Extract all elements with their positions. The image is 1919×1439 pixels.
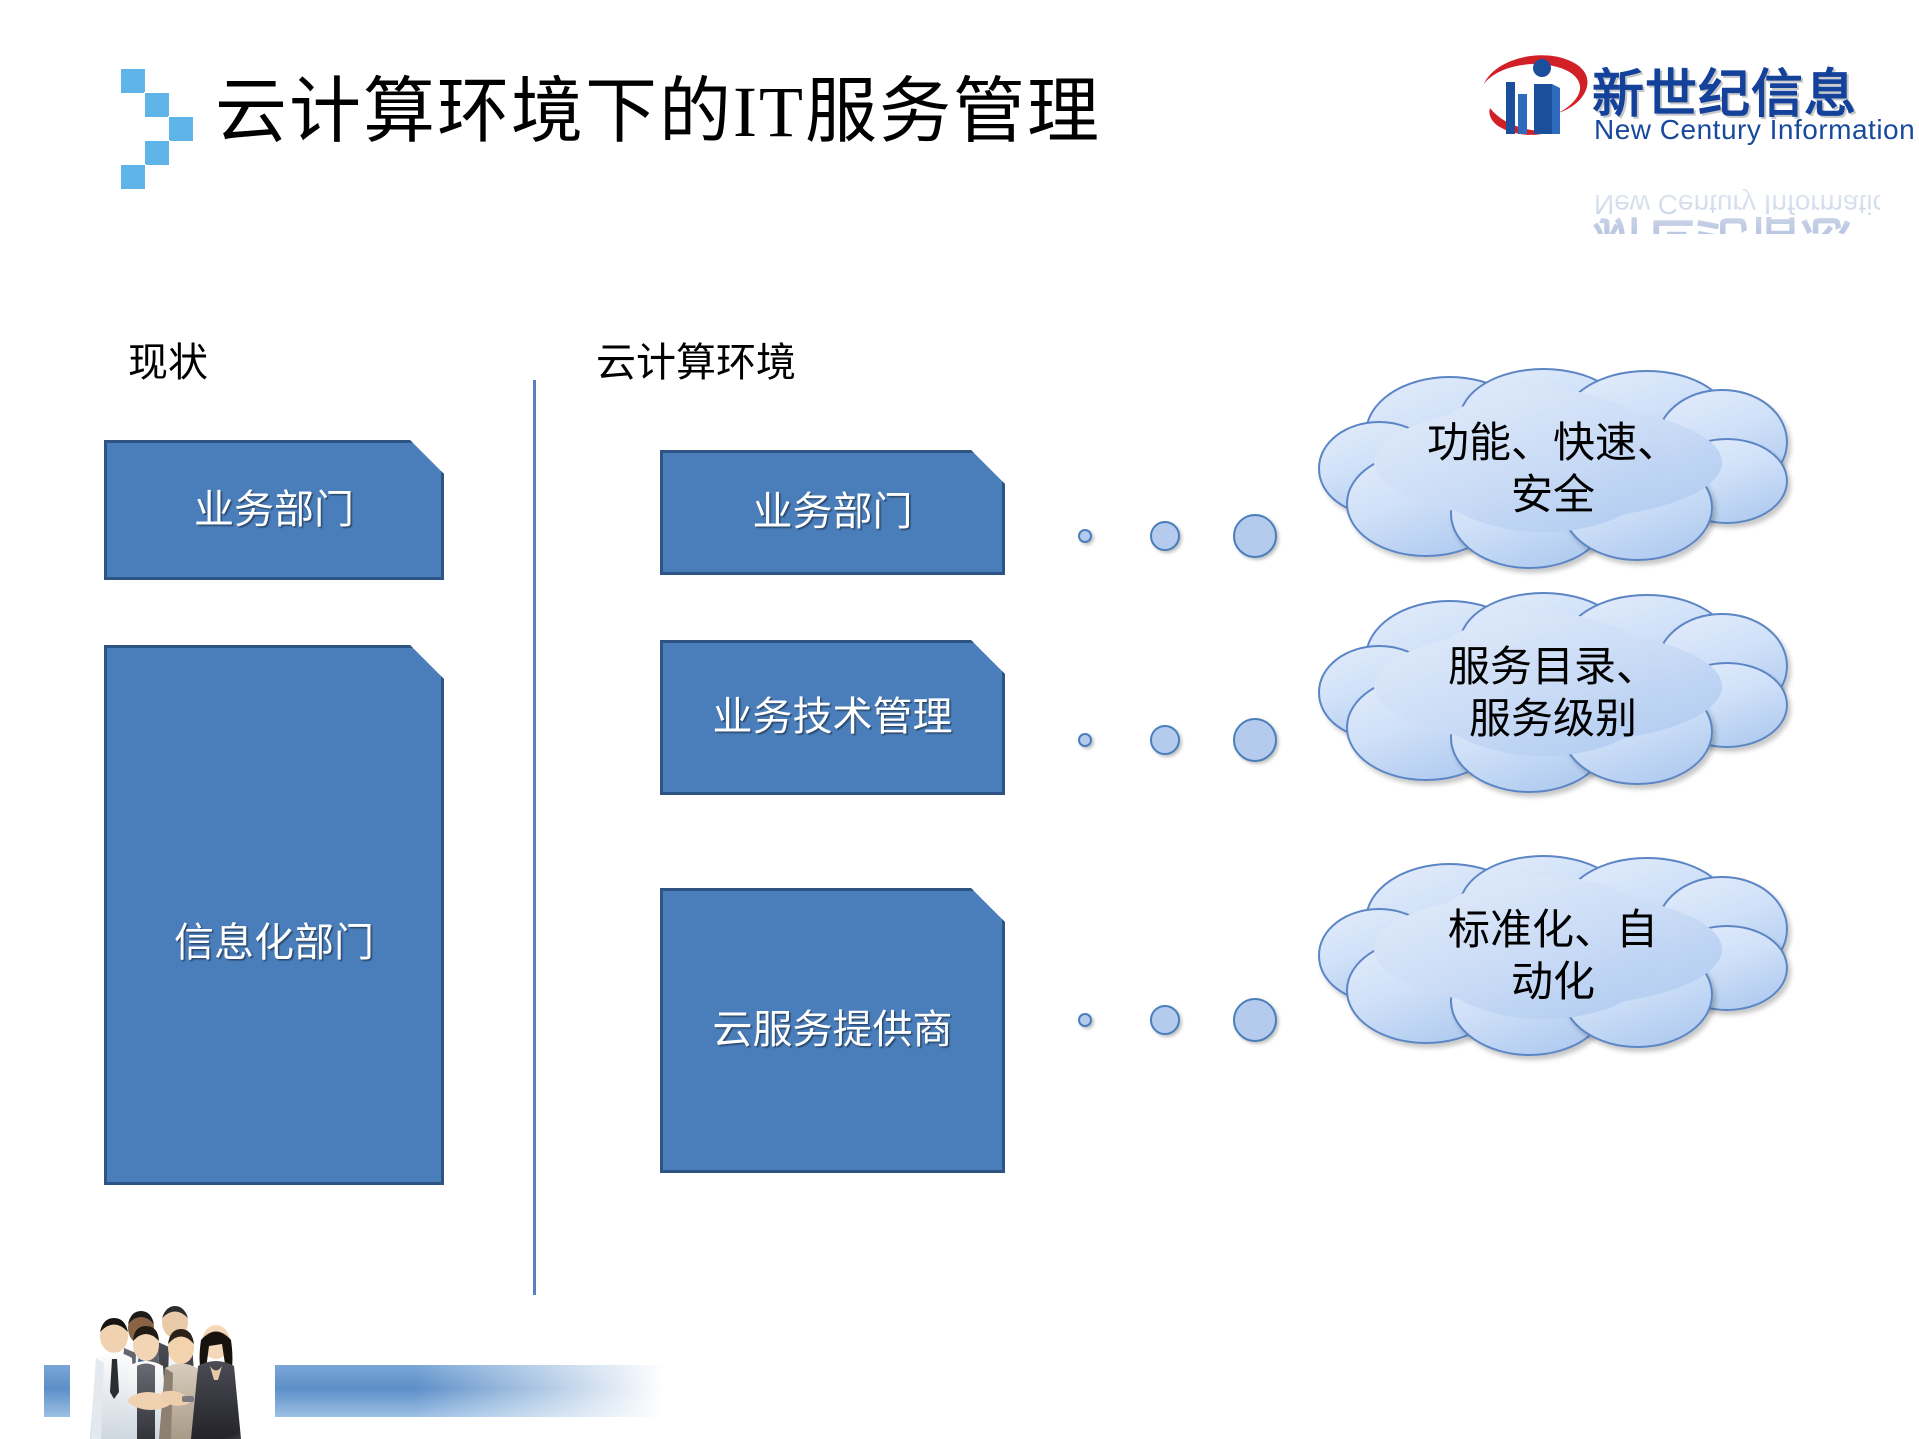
- callout-dot: [1233, 998, 1277, 1042]
- cloud-callout[interactable]: 标准化、自动化: [1318, 855, 1788, 1060]
- cloud-callout-text: 服务目录、服务级别: [1318, 592, 1788, 797]
- callout-dot: [1150, 521, 1180, 551]
- cloud-text-line: 动化: [1448, 958, 1658, 1009]
- bullet-square: [120, 68, 146, 94]
- process-box-label: 云服务提供商: [699, 1006, 967, 1055]
- logo-reflection: 新世纪信息 New Century Information: [1480, 154, 1880, 234]
- callout-dot: [1150, 1005, 1180, 1035]
- cloud-callout-text: 标准化、自动化: [1318, 855, 1788, 1060]
- process-box-label: 信息化部门: [160, 919, 388, 968]
- callout-dot: [1078, 529, 1092, 543]
- process-box-business-department-current[interactable]: 业务部门: [104, 440, 444, 580]
- callout-dot: [1078, 733, 1092, 747]
- bullet-square: [120, 164, 146, 190]
- column-divider: [533, 380, 536, 1295]
- process-box-cloud-service-provider[interactable]: 云服务提供商: [660, 888, 1005, 1173]
- cloud-text-line: 安全: [1427, 471, 1679, 522]
- cloud-text-line: 服务目录、: [1448, 643, 1658, 694]
- logo-english-name: New Century Information: [1594, 114, 1915, 146]
- process-box-business-department-cloud[interactable]: 业务部门: [660, 450, 1005, 575]
- callout-dot: [1150, 725, 1180, 755]
- bullet-square: [144, 140, 170, 166]
- callout-dot: [1078, 1013, 1092, 1027]
- cloud-text-line: 服务级别: [1448, 695, 1658, 746]
- cloud-callout[interactable]: 服务目录、服务级别: [1318, 592, 1788, 797]
- bullet-square: [144, 92, 170, 118]
- bullet-square: [168, 116, 194, 142]
- logo-reflection-english: New Century Information: [1594, 188, 1880, 220]
- title-bullet-icon: [96, 68, 172, 168]
- callout-dot: [1233, 718, 1277, 762]
- business-team-photo: [70, 1300, 275, 1439]
- process-box-label: 业务部门: [180, 486, 368, 535]
- page-title: 云计算环境下的IT服务管理: [215, 52, 1101, 157]
- cloud-text-line: 功能、快速、: [1427, 419, 1679, 470]
- company-logo: 新世纪信息 New Century Information 新世纪信息 New …: [1480, 46, 1880, 186]
- column-heading-current-state: 现状: [128, 330, 208, 388]
- process-box-label: 业务部门: [739, 488, 927, 537]
- callout-dot: [1233, 514, 1277, 558]
- cloud-callout-text: 功能、快速、安全: [1318, 368, 1788, 573]
- team-photo-illustration: [70, 1300, 275, 1439]
- new-century-swoosh-icon: [1480, 50, 1596, 146]
- process-box-business-tech-management[interactable]: 业务技术管理: [660, 640, 1005, 795]
- column-heading-cloud-environment: 云计算环境: [596, 330, 796, 388]
- cloud-callout[interactable]: 功能、快速、安全: [1318, 368, 1788, 573]
- process-box-it-department[interactable]: 信息化部门: [104, 645, 444, 1185]
- process-box-label: 业务技术管理: [699, 693, 967, 742]
- cloud-text-line: 标准化、自: [1448, 906, 1658, 957]
